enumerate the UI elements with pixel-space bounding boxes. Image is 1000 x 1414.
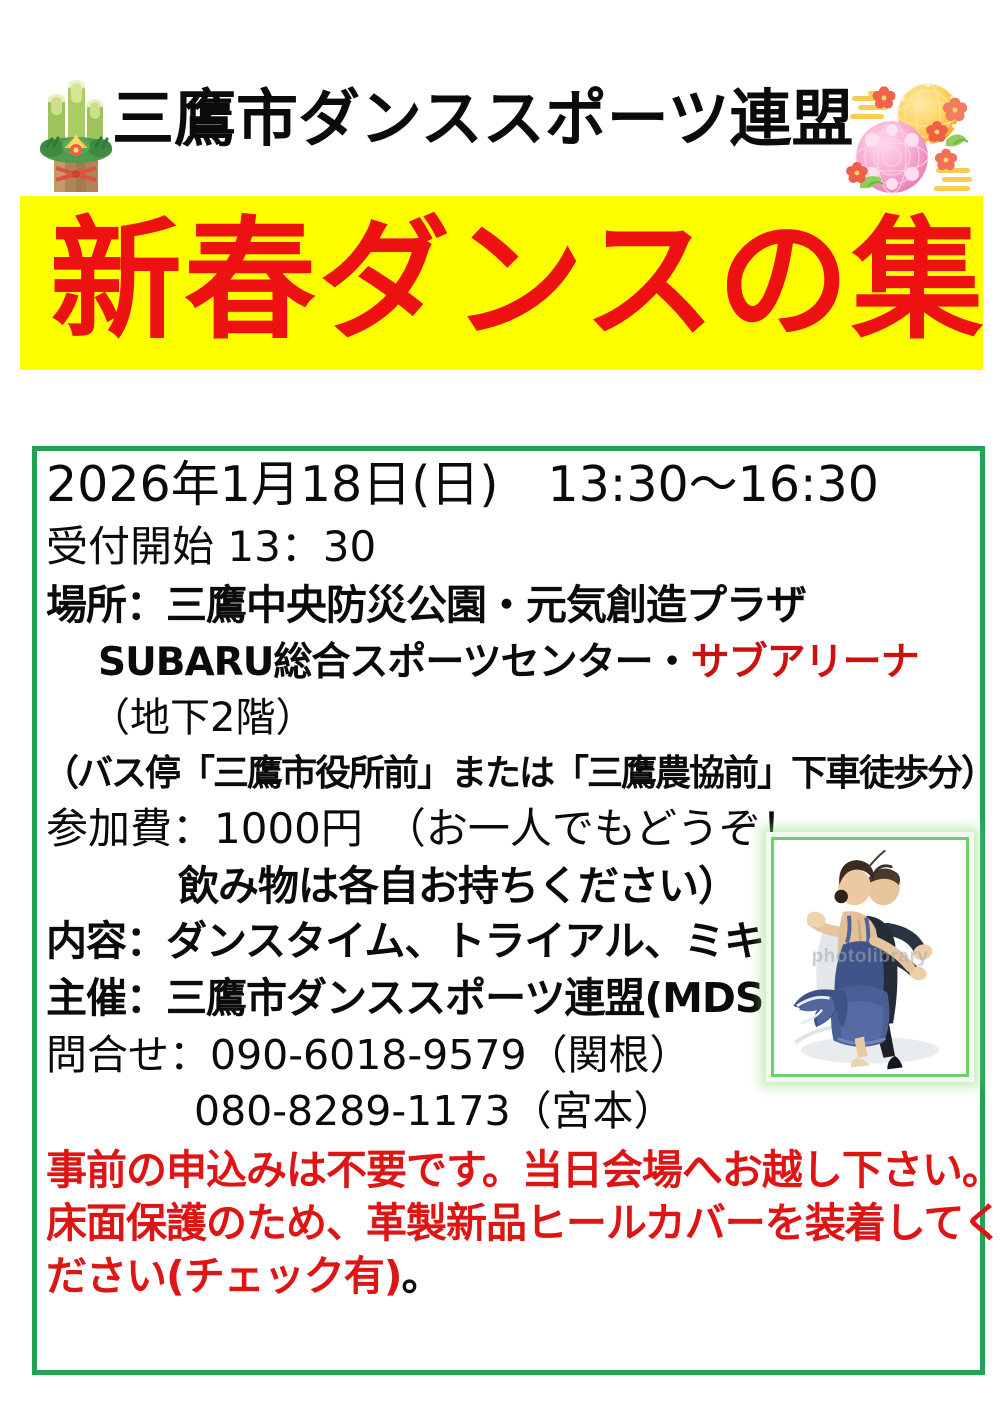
event-title-banner: 新春ダンスの集い (20, 196, 983, 370)
detail-venue-red: サブアリーナ (691, 640, 919, 685)
detail-floor: （地下2階） (90, 698, 976, 738)
notice-heel-cover-text: ださい(チェック有) (46, 1252, 401, 1300)
notice-period: 。 (401, 1252, 441, 1300)
detail-contact-miyamoto: 080-8289-1173（宮本） (194, 1091, 976, 1132)
dance-photo-frame: photolibrary (771, 837, 969, 1077)
header-band: 三鷹市ダンススポーツ連盟 (0, 30, 1000, 180)
kadomatsu-icon (34, 70, 118, 198)
organization-title: 三鷹市ダンススポーツ連盟 (112, 88, 854, 150)
notice-no-reservation: 事前の申込みは不要です。当日会場へお越し下さい。 (46, 1150, 976, 1191)
notice-heel-cover-2: ださい(チェック有)。 (46, 1256, 976, 1297)
detail-place: 場所：三鷹中央防災公園・元気創造プラザ (46, 585, 976, 626)
notice-heel-cover-1: 床面保護のため、革製新品ヒールカバーを装着してく (46, 1203, 976, 1244)
detail-date: 2026年1月18日(日) 13:30～16:30 (46, 460, 976, 509)
detail-venue: SUBARU総合スポーツセンター・サブアリーナ (98, 643, 976, 682)
event-title: 新春ダンスの集い (50, 212, 983, 351)
temari-newyear-icon (842, 70, 984, 200)
ballroom-dancing-couple-image (774, 840, 966, 1074)
detail-bus-access: （バス停「三鷹市役所前」または「三鷹農協前」下車徒歩分） (43, 756, 976, 792)
dance-photo-card: photolibrary (766, 832, 974, 1082)
detail-venue-black: SUBARU総合スポーツセンター・ (98, 640, 691, 685)
detail-reception: 受付開始 13：30 (46, 526, 976, 568)
